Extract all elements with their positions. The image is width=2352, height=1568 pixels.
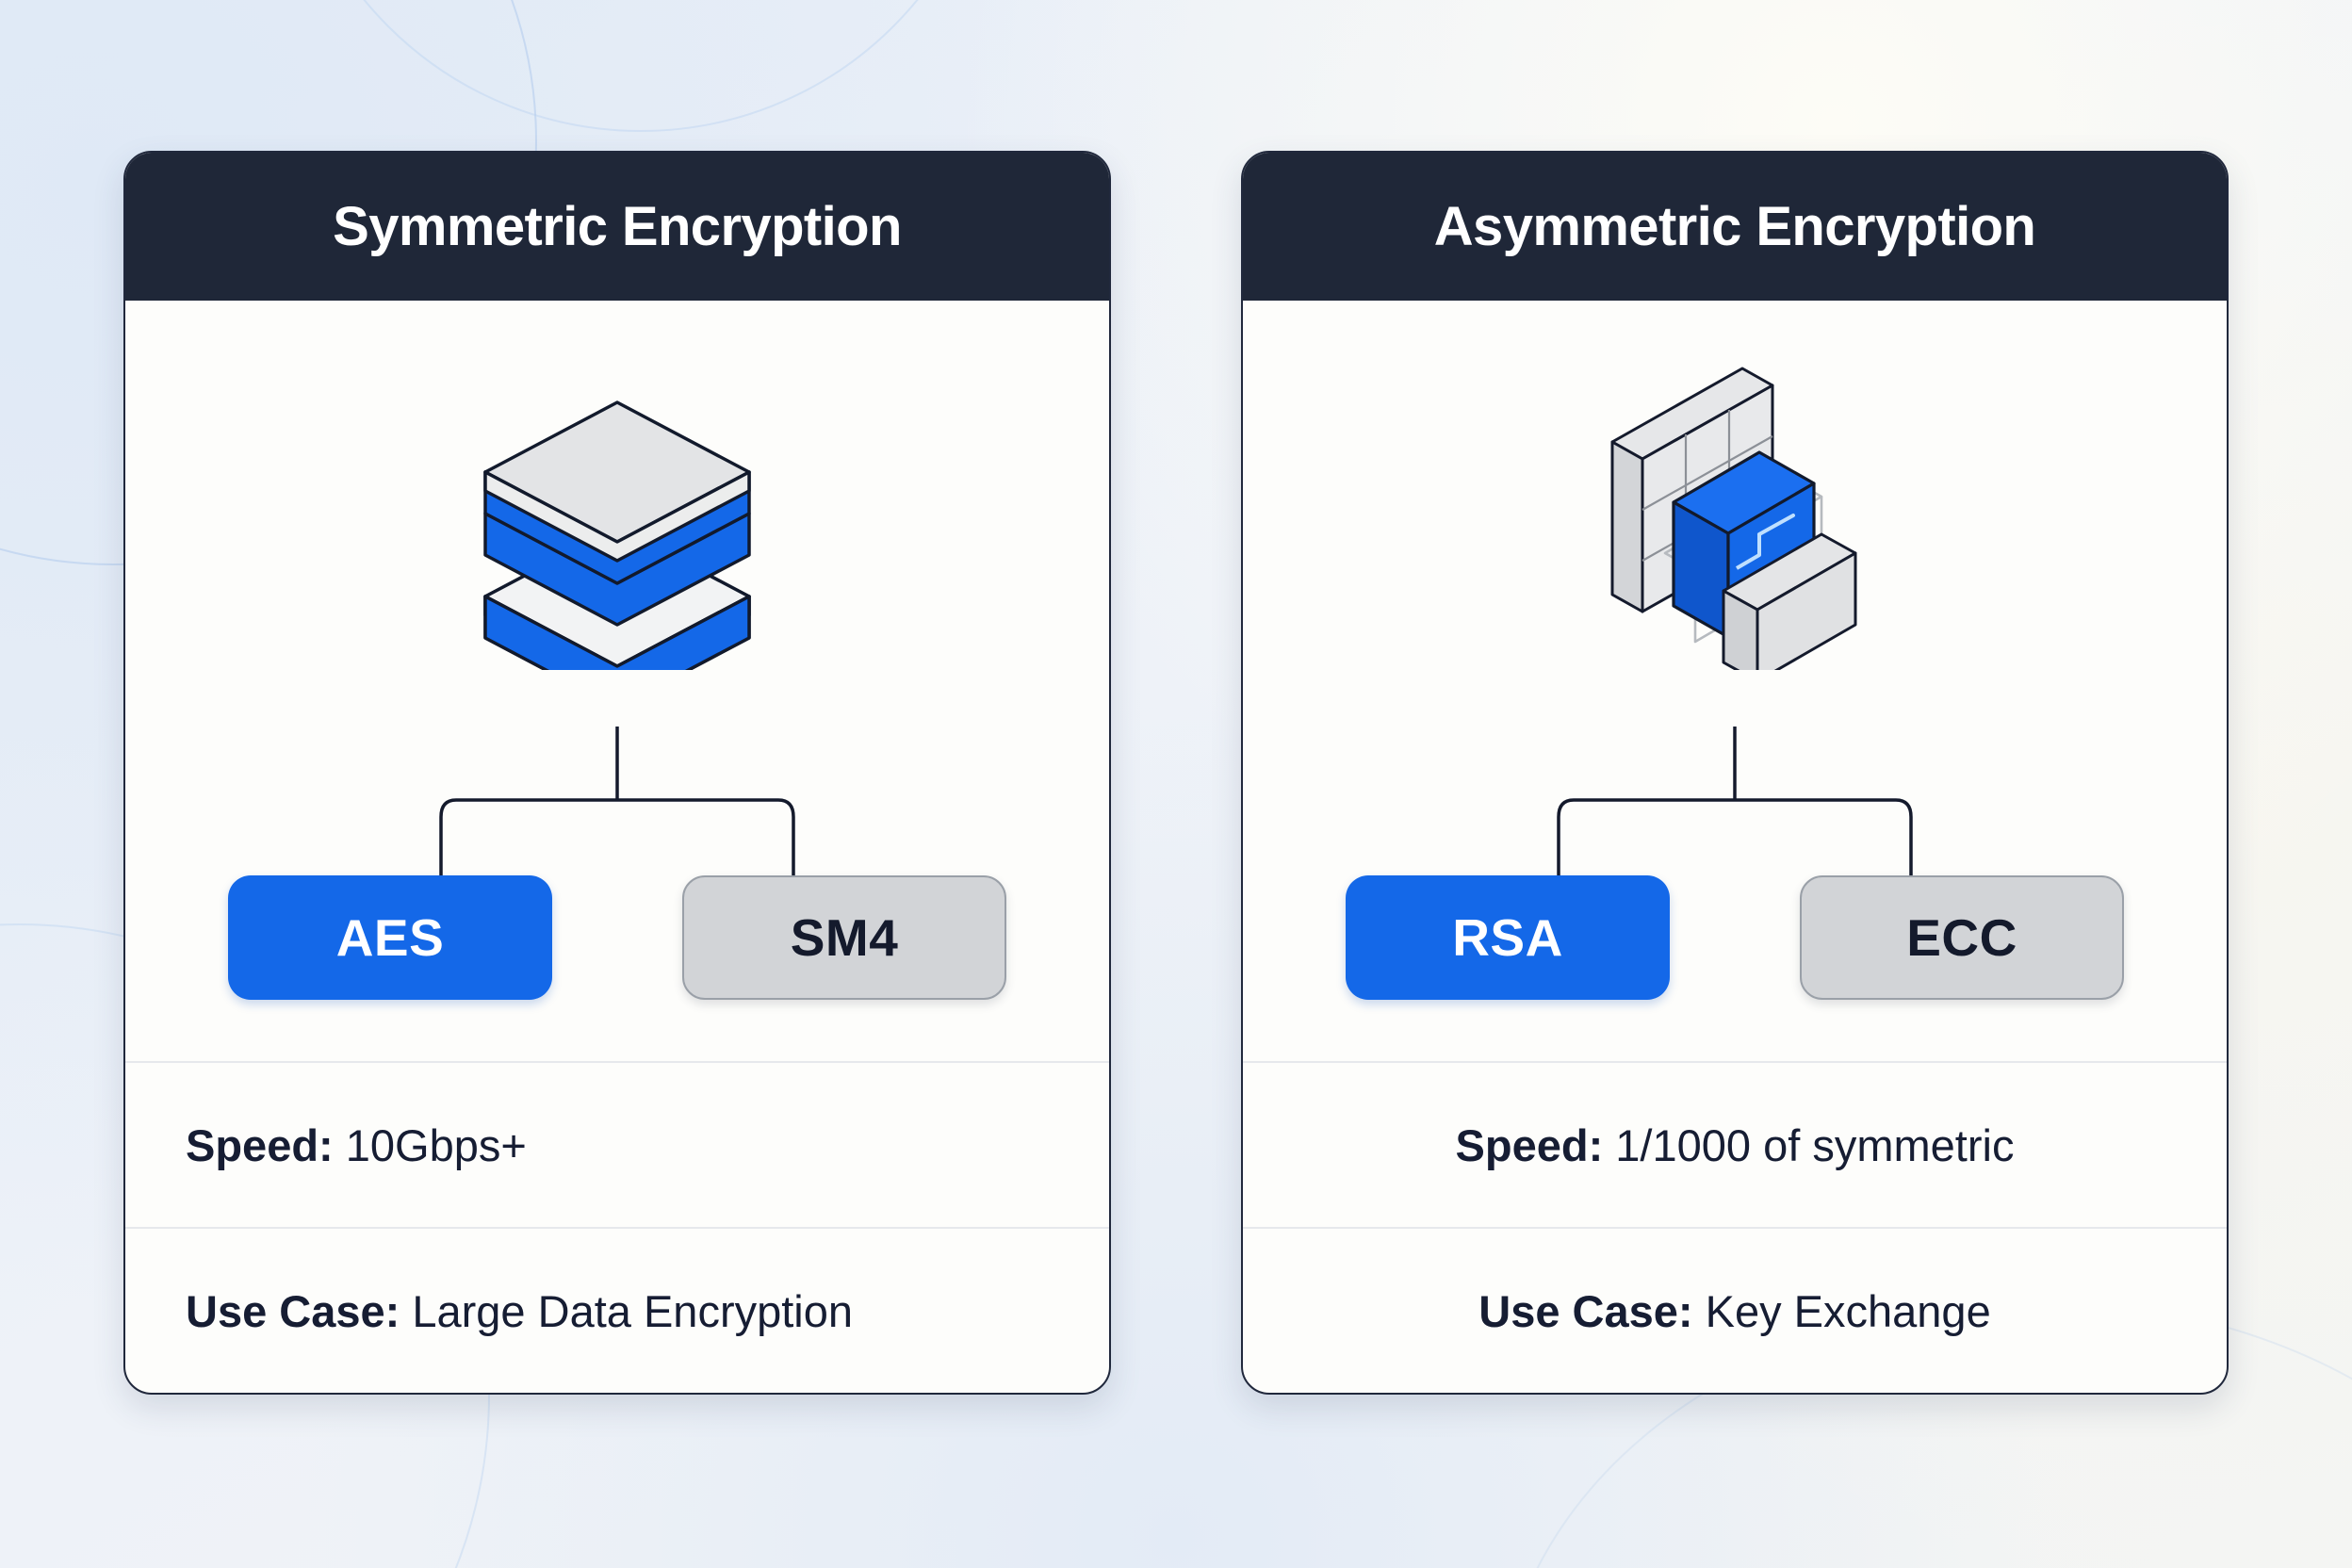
fact-speed: Speed: 1/1000 of symmetric — [1456, 1119, 2015, 1171]
node-label: SM4 — [791, 907, 899, 968]
fact-speed: Speed: 10Gbps+ — [186, 1119, 527, 1171]
node-sm4[interactable]: SM4 — [682, 875, 1006, 1000]
card-symmetric: Symmetric Encryption — [123, 151, 1111, 1395]
stacked-layers-cube-icon — [462, 359, 773, 670]
card-body-asymmetric: RSA ECC Speed: 1/1000 of symmetric Use C… — [1243, 301, 2227, 1393]
fact-usecase: Use Case: Large Data Encryption — [186, 1285, 853, 1337]
node-rsa[interactable]: RSA — [1346, 875, 1670, 1000]
card-body-symmetric: AES SM4 Speed: 10Gbps+ Use Case: Large D… — [125, 301, 1109, 1393]
card-title: Symmetric Encryption — [333, 200, 902, 254]
fact-row-speed-asymmetric: Speed: 1/1000 of symmetric — [1243, 1061, 2227, 1227]
fact-value: 1/1000 of symmetric — [1615, 1120, 2014, 1170]
fact-key: Use Case: — [186, 1286, 400, 1336]
card-title: Asymmetric Encryption — [1434, 200, 2035, 254]
card-header-asymmetric: Asymmetric Encryption — [1243, 153, 2227, 301]
diagram-asymmetric: RSA ECC — [1243, 301, 2227, 1061]
card-header-symmetric: Symmetric Encryption — [125, 153, 1109, 301]
algorithm-nodes-symmetric: AES SM4 — [125, 875, 1109, 1000]
fact-value: 10Gbps+ — [346, 1120, 527, 1170]
node-label: AES — [336, 907, 445, 968]
fact-key: Speed: — [186, 1120, 334, 1170]
layered-panels-key-icon — [1575, 359, 1895, 670]
fact-row-usecase-asymmetric: Use Case: Key Exchange — [1243, 1227, 2227, 1393]
fact-value: Key Exchange — [1706, 1286, 1991, 1336]
connector-lines-symmetric — [125, 727, 1109, 887]
fact-row-speed-symmetric: Speed: 10Gbps+ — [125, 1061, 1109, 1227]
fact-usecase: Use Case: Key Exchange — [1478, 1285, 1990, 1337]
comparison-cards-container: Symmetric Encryption — [0, 0, 2352, 1568]
node-label: RSA — [1452, 907, 1563, 968]
card-asymmetric: Asymmetric Encryption — [1241, 151, 2229, 1395]
fact-value: Large Data Encryption — [412, 1286, 853, 1336]
node-aes[interactable]: AES — [228, 875, 552, 1000]
fact-key: Speed: — [1456, 1120, 1604, 1170]
algorithm-nodes-asymmetric: RSA ECC — [1243, 875, 2227, 1000]
node-label: ECC — [1906, 907, 2017, 968]
fact-row-usecase-symmetric: Use Case: Large Data Encryption — [125, 1227, 1109, 1393]
node-ecc[interactable]: ECC — [1800, 875, 2124, 1000]
fact-key: Use Case: — [1478, 1286, 1692, 1336]
diagram-symmetric: AES SM4 — [125, 301, 1109, 1061]
connector-lines-asymmetric — [1243, 727, 2227, 887]
